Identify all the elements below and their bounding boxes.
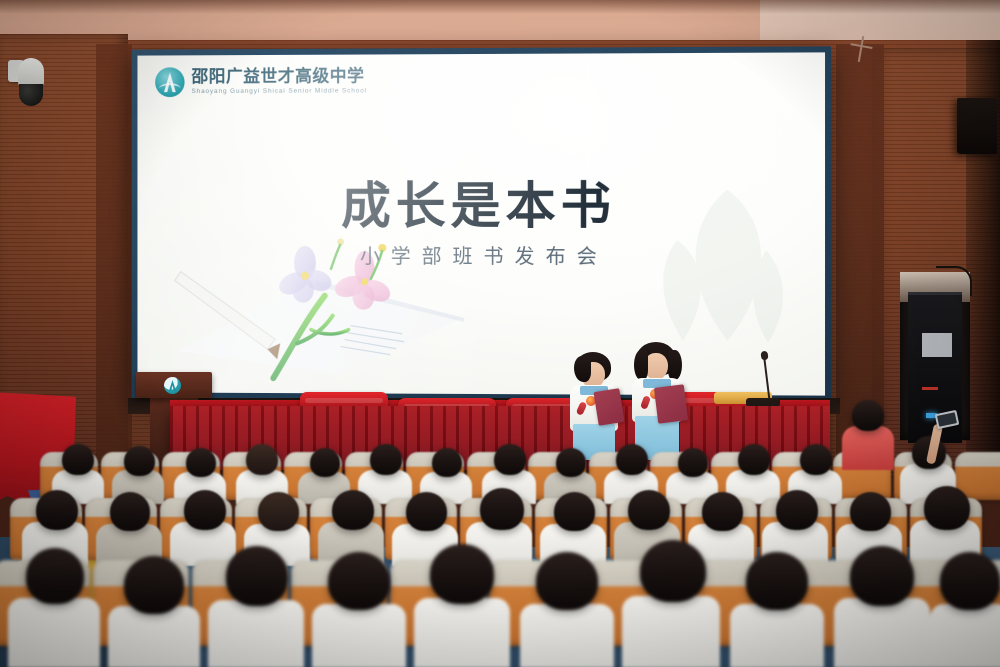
school-name-en: Shaoyang Guangyi Shicai Senior Middle Sc… bbox=[191, 88, 367, 95]
presentation-folder bbox=[654, 384, 688, 423]
wall-speaker-icon bbox=[957, 98, 997, 154]
rack-led-red-icon bbox=[922, 387, 938, 390]
rack-display-panel bbox=[922, 333, 952, 357]
ceiling-shadow bbox=[0, 0, 1000, 14]
slide-title: 成长是本书 bbox=[137, 165, 825, 238]
wall-pilaster-left bbox=[96, 44, 132, 464]
slide-subtitle: 小学部班书发布会 bbox=[137, 240, 825, 270]
lectern-school-emblem-icon bbox=[164, 377, 181, 394]
presentation-folder bbox=[594, 388, 625, 426]
host-left bbox=[566, 352, 622, 462]
projection-screen: 邵阳广益世才高级中学 Shaoyang Guangyi Shicai Senio… bbox=[132, 46, 832, 401]
school-emblem-icon bbox=[155, 67, 184, 97]
rack-cable bbox=[936, 266, 972, 296]
school-name-cn: 邵阳广益世才高级中学 bbox=[191, 68, 367, 86]
presentation-slide: 邵阳广益世才高级中学 Shaoyang Guangyi Shicai Senio… bbox=[137, 52, 825, 395]
auditorium-photo: 邵阳广益世才高级中学 Shaoyang Guangyi Shicai Senio… bbox=[0, 0, 1000, 667]
dome-security-camera-icon bbox=[8, 56, 50, 110]
slide-school-logo: 邵阳广益世才高级中学 Shaoyang Guangyi Shicai Senio… bbox=[155, 66, 367, 97]
